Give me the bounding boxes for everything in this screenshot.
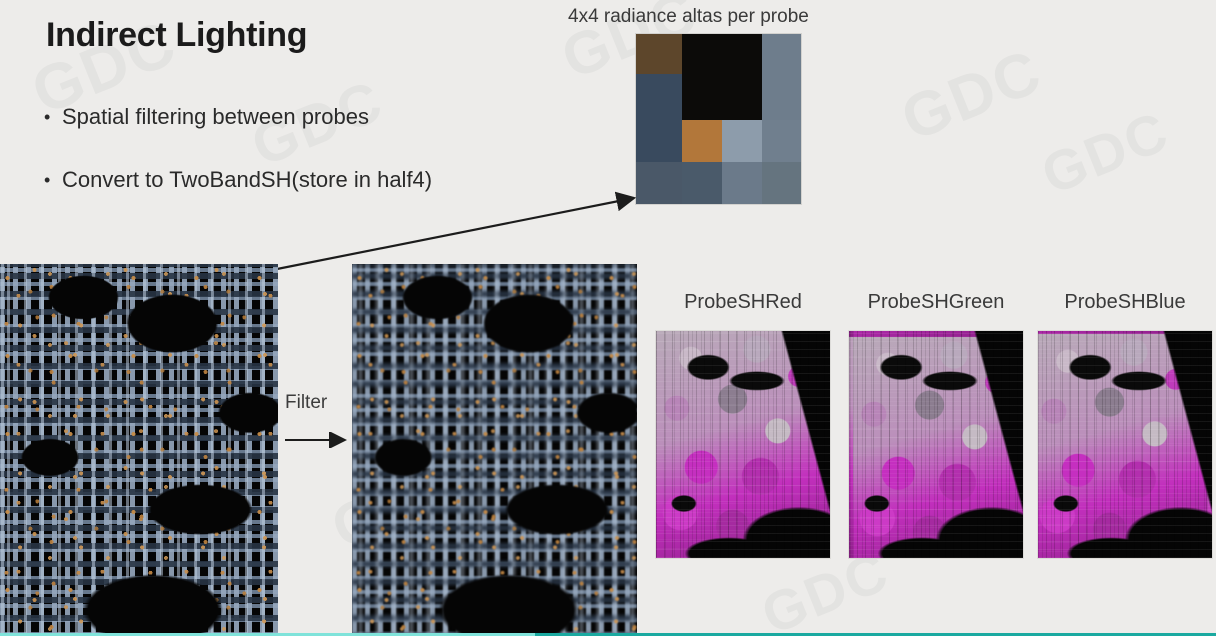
- sh-panel-green: [849, 331, 1023, 558]
- atlas-cell-4: [636, 74, 682, 120]
- atlas-cell-8: [636, 120, 682, 162]
- bullet-marker-icon: •: [44, 170, 62, 191]
- background-watermark: GDC: [892, 36, 1052, 156]
- probe-grid-occlusion-layer: [0, 264, 278, 636]
- sh-pixel-grid-layer: [1038, 331, 1212, 558]
- sh-pixel-grid-layer: [656, 331, 830, 558]
- probe-grid-occlusion-layer: [352, 264, 637, 636]
- filter-arrow: [285, 432, 355, 448]
- atlas-cell-14: [722, 162, 762, 204]
- atlas-cell-10: [722, 120, 762, 162]
- atlas-cell-1: [682, 34, 722, 74]
- sh-panel-label-green: ProbeSHGreen: [849, 291, 1023, 314]
- atlas-cell-5: [682, 74, 722, 120]
- bullet-text: Spatial filtering between probes: [62, 104, 369, 129]
- sh-panel-label-blue: ProbeSHBlue: [1038, 291, 1212, 314]
- radiance-atlas-grid: [636, 34, 801, 204]
- slide-canvas: GDC GDC GDC GDC GDC GDC GDC Indirect Lig…: [0, 0, 1216, 636]
- bullet-item-1: •Convert to TwoBandSH(store in half4): [44, 166, 432, 193]
- filter-label: Filter: [285, 392, 327, 414]
- atlas-cell-12: [636, 162, 682, 204]
- atlas-cell-7: [762, 74, 801, 120]
- sh-panel-label-red: ProbeSHRed: [656, 291, 830, 314]
- atlas-cell-9: [682, 120, 722, 162]
- background-watermark: GDC: [1033, 98, 1178, 207]
- atlas-cell-0: [636, 34, 682, 74]
- atlas-caption: 4x4 radiance altas per probe: [568, 6, 809, 28]
- atlas-cell-6: [722, 74, 762, 120]
- sh-panel-red: [656, 331, 830, 558]
- atlas-cell-13: [682, 162, 722, 204]
- page-title: Indirect Lighting: [46, 16, 307, 55]
- unfiltered-probe-grid-image: [0, 264, 278, 636]
- sh-pixel-grid-layer: [849, 331, 1023, 558]
- bullet-item-0: •Spatial filtering between probes: [44, 103, 369, 130]
- bullet-text: Convert to TwoBandSH(store in half4): [62, 167, 432, 192]
- atlas-cell-11: [762, 120, 801, 162]
- atlas-cell-2: [722, 34, 762, 74]
- sh-panel-blue: [1038, 331, 1212, 558]
- atlas-cell-15: [762, 162, 801, 204]
- filtered-probe-grid-image: [352, 264, 637, 636]
- atlas-cell-3: [762, 34, 801, 74]
- bullet-marker-icon: •: [44, 107, 62, 128]
